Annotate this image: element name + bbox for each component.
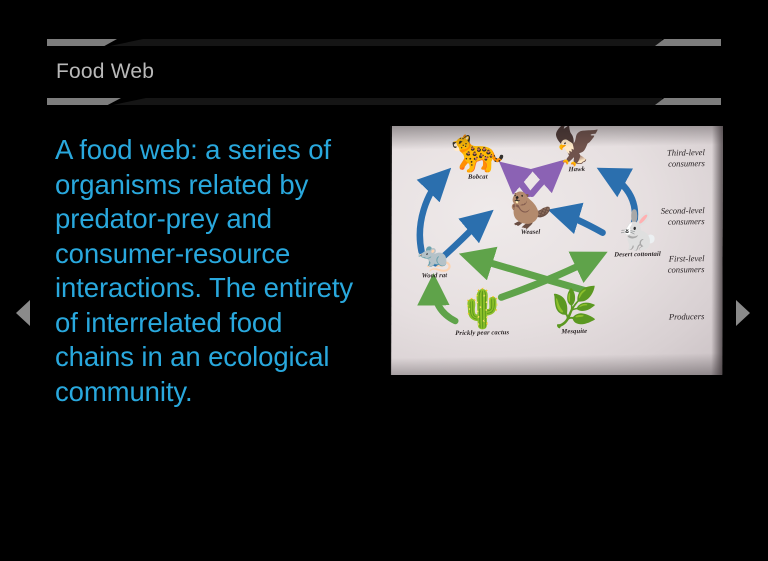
organism-mesquite: 🌿 Mesquite [531, 288, 617, 335]
previous-slide-button[interactable] [16, 300, 30, 326]
trophic-label-producers: Producers [669, 311, 705, 323]
presentation-slide: Food Web A food web: a series of organis… [0, 0, 768, 561]
weasel-icon: 🦫 [485, 193, 577, 228]
trophic-label-second-level: Second-level consumers [661, 205, 705, 228]
slide-header-frame: Food Web [0, 0, 768, 110]
header-top-bar-right [655, 39, 721, 46]
mesquite-icon: 🌿 [531, 288, 617, 327]
slide-body-text: A food web: a series of organisms relate… [55, 133, 365, 409]
organism-hawk: 🦅 Hawk [532, 126, 622, 174]
trophic-label-first-level: First-level consumers [668, 253, 705, 276]
trophic-first-line2: consumers [668, 264, 705, 276]
organism-label-cactus: Prickly pear cactus [439, 329, 525, 337]
next-slide-button[interactable] [736, 300, 750, 326]
page-title: Food Web [56, 60, 154, 84]
header-bottom-bar-middle [113, 98, 662, 105]
hawk-icon: 🦅 [532, 126, 622, 166]
trophic-third-line1: Third-level [667, 147, 705, 159]
wood-rat-icon: 🐀 [399, 243, 469, 272]
bobcat-icon: 🐆 [428, 128, 528, 174]
organism-label-bobcat: Bobcat [428, 173, 528, 182]
trophic-producer-line1: Producers [669, 311, 705, 323]
header-top-bar-middle [110, 39, 662, 46]
header-bottom-bar-left [47, 98, 121, 105]
organism-woodrat: 🐀 Wood rat [399, 243, 469, 280]
food-web-figure: 🐆 Bobcat 🦅 Hawk 🦫 Weasel 🐀 Wood rat 🐇 De… [390, 126, 723, 375]
organism-label-woodrat: Wood rat [399, 272, 469, 280]
header-bottom-bar-right [655, 98, 721, 105]
figure-bottom-shadow [391, 353, 722, 375]
trophic-second-line2: consumers [661, 216, 705, 228]
trophic-third-line2: consumers [667, 158, 705, 170]
trophic-label-third-level: Third-level consumers [667, 147, 705, 170]
arrow-woodrat-to-bobcat [420, 175, 444, 251]
trophic-first-line1: First-level [668, 253, 705, 265]
organism-label-mesquite: Mesquite [531, 327, 617, 335]
organism-label-weasel: Weasel [485, 228, 577, 236]
organism-label-hawk: Hawk [532, 165, 622, 173]
prickly-pear-cactus-icon: 🌵 [439, 290, 525, 329]
organism-cactus: 🌵 Prickly pear cactus [439, 290, 525, 337]
organism-bobcat: 🐆 Bobcat [428, 128, 528, 182]
header-top-bar-left [47, 39, 117, 46]
trophic-second-line1: Second-level [661, 205, 705, 217]
organism-weasel: 🦫 Weasel [485, 193, 577, 236]
food-web-paper: 🐆 Bobcat 🦅 Hawk 🦫 Weasel 🐀 Wood rat 🐇 De… [391, 126, 723, 375]
